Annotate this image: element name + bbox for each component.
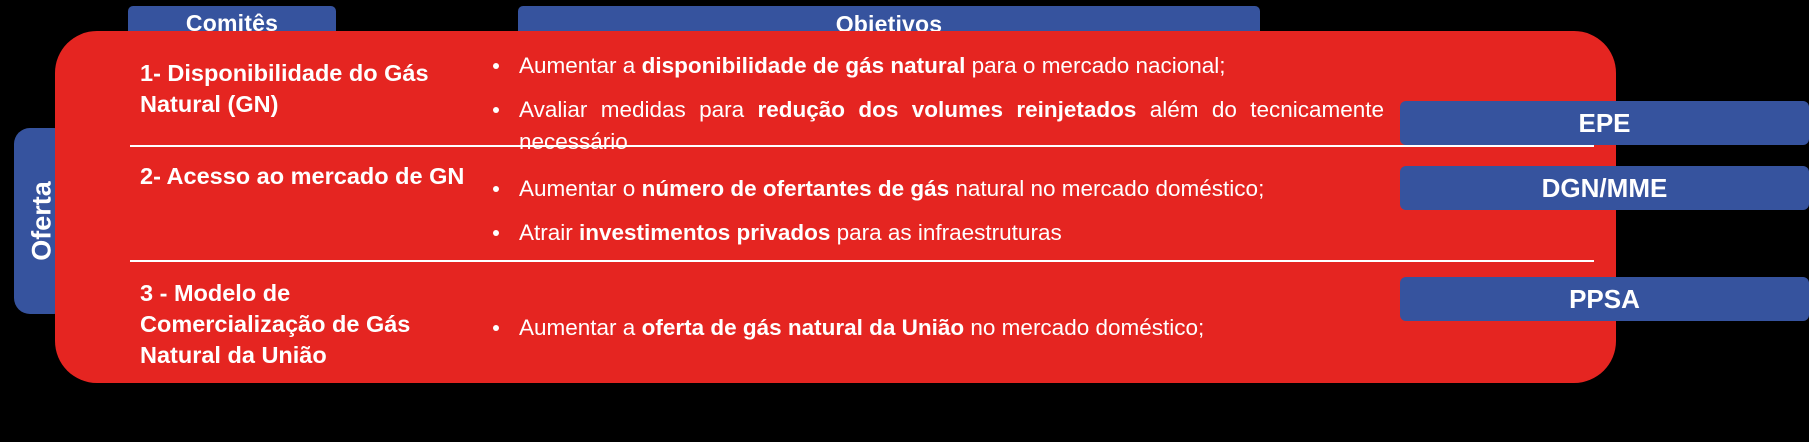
objective-bullet: Aumentar o número de ofertantes de gás n… [485,173,1384,205]
bullet-dot-icon [493,230,499,236]
committees-panel: 1- Disponibilidade do Gás Natural (GN) A… [55,31,1616,383]
responsible-badge-dgnmme-label: DGN/MME [1542,173,1668,204]
objective-emphasis: número de ofertantes de gás [642,176,950,201]
objectives-list: Aumentar a disponibilidade de gás natura… [485,50,1384,158]
bullet-dot-icon [493,107,499,113]
objective-text: para o mercado nacional; [965,53,1225,78]
objective-text: Aumentar a [519,315,642,340]
objective-bullet: Aumentar a disponibilidade de gás natura… [485,50,1384,82]
committee-title: 2- Acesso ao mercado de GN [140,161,470,192]
objective-text: no mercado doméstico; [964,315,1204,340]
objective-text: Aumentar o [519,176,642,201]
objective-bullet: Atrair investimentos privados para as in… [485,217,1384,249]
committee-row: 3 - Modelo de Comercialização de Gás Nat… [55,260,1616,383]
row-divider [130,260,1594,262]
bullet-dot-icon [493,186,499,192]
objective-bullet: Aumentar a oferta de gás natural da Uniã… [485,312,1384,344]
objectives-list: Aumentar a oferta de gás natural da Uniã… [485,312,1384,344]
committee-row: 1- Disponibilidade do Gás Natural (GN) A… [55,31,1616,145]
bullet-dot-icon [493,63,499,69]
responsible-badge-ppsa-label: PPSA [1569,284,1640,315]
objective-emphasis: investimentos privados [579,220,830,245]
responsible-badge-epe-label: EPE [1578,108,1630,139]
objective-emphasis: oferta de gás natural da União [642,315,965,340]
bullet-dot-icon [493,325,499,331]
objective-text: Avaliar medidas para [519,97,757,122]
objective-text: natural no mercado doméstico; [949,176,1264,201]
committee-title: 1- Disponibilidade do Gás Natural (GN) [140,58,470,120]
side-tab-oferta-label: Oferta [27,181,58,261]
committee-title: 3 - Modelo de Comercialização de Gás Nat… [140,278,470,371]
committee-row: 2- Acesso ao mercado de GN Aumentar o nú… [55,145,1616,260]
objective-emphasis: redução dos volumes reinjetados [757,97,1136,122]
objective-text: Atrair [519,220,579,245]
responsible-badge-epe: EPE [1400,101,1809,145]
responsible-badge-ppsa: PPSA [1400,277,1809,321]
objective-text: para as infraestruturas [830,220,1061,245]
row-divider [130,145,1594,147]
objective-text: Aumentar a [519,53,642,78]
responsible-badge-dgnmme: DGN/MME [1400,166,1809,210]
objectives-list: Aumentar o número de ofertantes de gás n… [485,173,1384,249]
objective-emphasis: disponibilidade de gás natural [642,53,966,78]
